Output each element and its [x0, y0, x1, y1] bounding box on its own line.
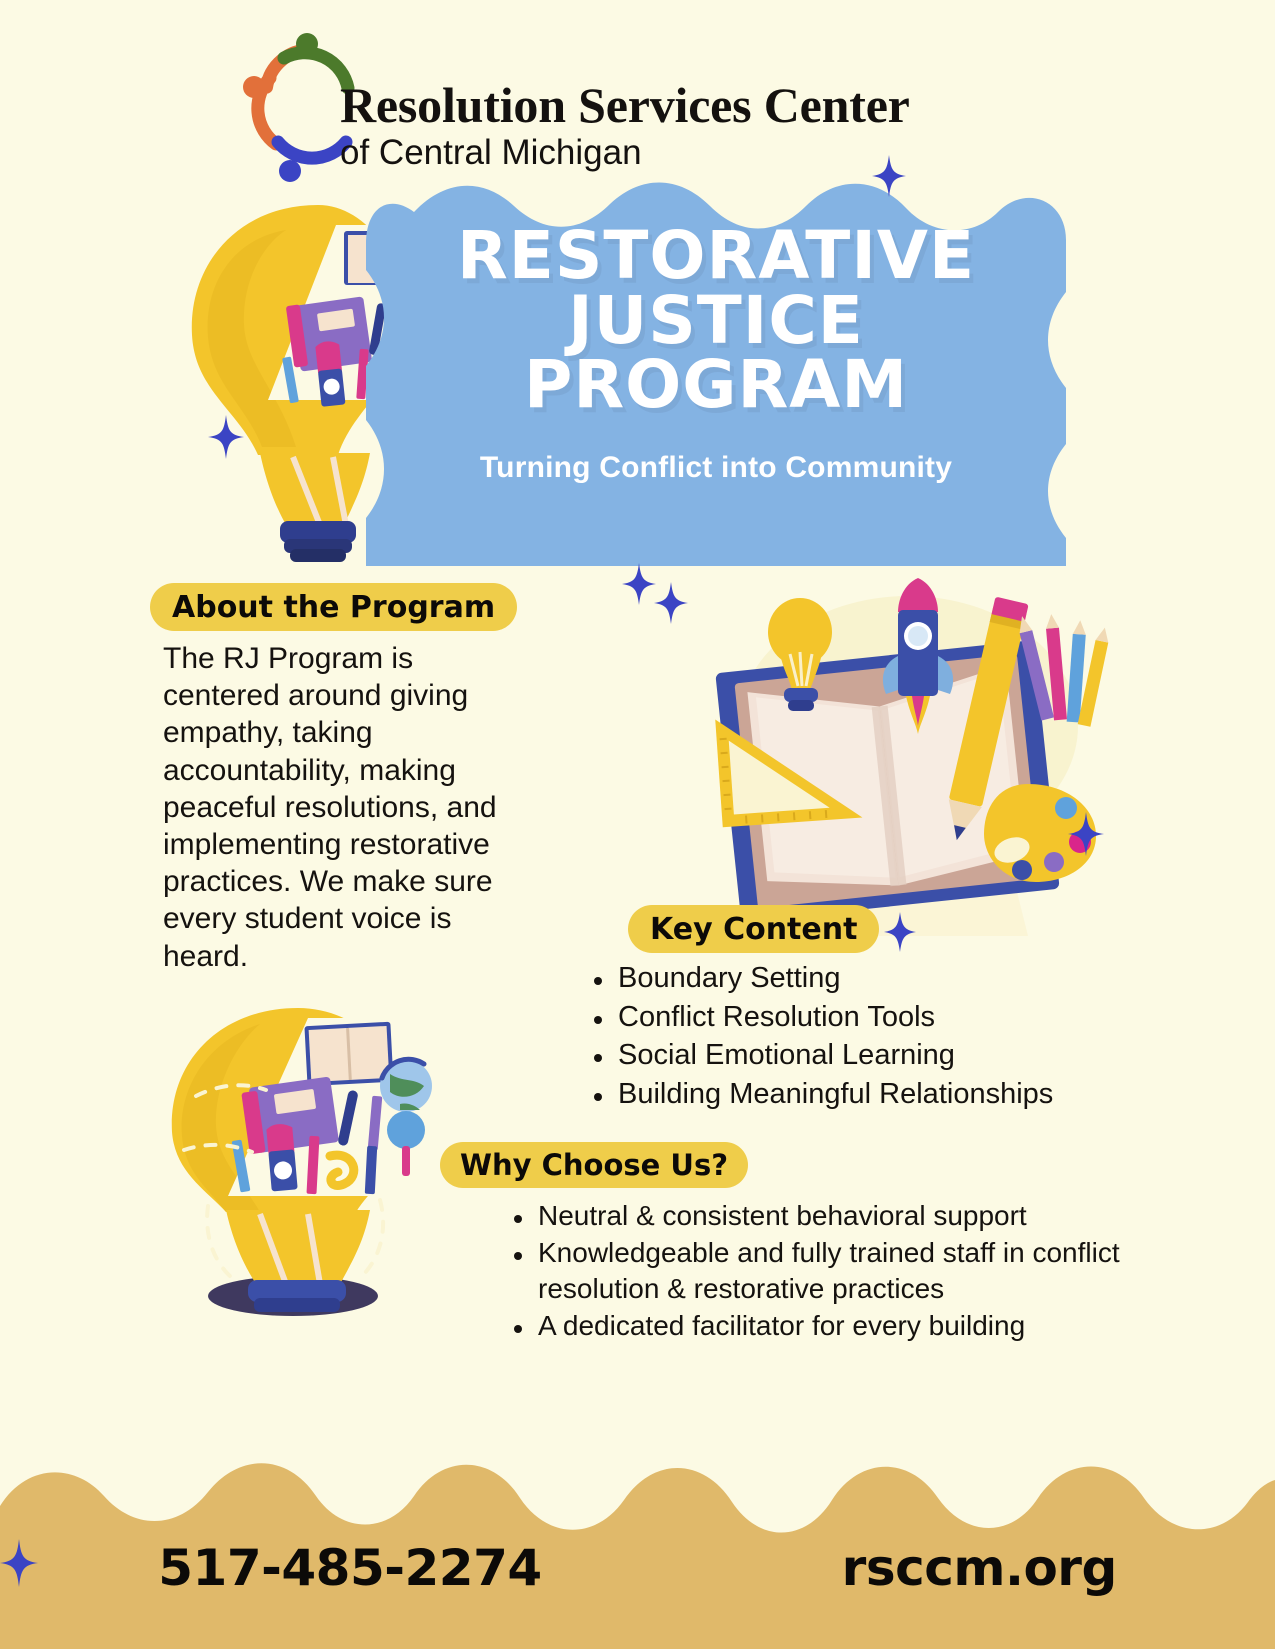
hero-subtitle: Turning Conflict into Community: [366, 450, 1066, 486]
organization-logo: Resolution Services Center of Central Mi…: [240, 28, 920, 178]
list-item: Boundary Setting: [588, 960, 1148, 997]
flyer-page: Resolution Services Center of Central Mi…: [0, 0, 1275, 1649]
footer-band: 517-485-2274 rsccm.org: [0, 1434, 1275, 1649]
about-section-body: The RJ Program is centered around giving…: [163, 640, 523, 975]
key-content-list: Boundary Setting Conflict Resolution Too…: [588, 960, 1148, 1114]
hero-title-line-3: PROGRAM: [366, 353, 1066, 418]
sparkle-icon: [872, 155, 906, 202]
list-item: Knowledgeable and fully trained staff in…: [508, 1235, 1133, 1306]
sparkle-icon: [208, 415, 244, 464]
why-choose-us-heading: Why Choose Us?: [440, 1142, 748, 1188]
footer-contact-row: 517-485-2274 rsccm.org: [0, 1539, 1275, 1597]
sparkle-icon: [884, 912, 916, 957]
open-book-supplies-illustration: [648, 556, 1128, 946]
logo-subtitle: of Central Michigan: [340, 133, 920, 173]
why-choose-us-list: Neutral & consistent behavioral support …: [508, 1198, 1133, 1345]
logo-title: Resolution Services Center: [340, 80, 920, 130]
lightbulb-supplies-illustration-bottom: [148, 1000, 448, 1320]
sparkle-icon: [1068, 812, 1104, 861]
hero-text-group: RESTORATIVE JUSTICE PROGRAM Turning Conf…: [366, 224, 1066, 486]
about-section-heading: About the Program: [150, 583, 517, 631]
footer-phone[interactable]: 517-485-2274: [158, 1539, 541, 1597]
hero-title-line-2: JUSTICE: [366, 289, 1066, 354]
list-item: Social Emotional Learning: [588, 1037, 1148, 1074]
list-item: A dedicated facilitator for every buildi…: [508, 1308, 1133, 1343]
footer-website[interactable]: rsccm.org: [842, 1539, 1117, 1597]
list-item: Conflict Resolution Tools: [588, 999, 1148, 1036]
hero-title-line-1: RESTORATIVE: [366, 224, 1066, 289]
list-item: Neutral & consistent behavioral support: [508, 1198, 1133, 1233]
hero-title-panel: RESTORATIVE JUSTICE PROGRAM Turning Conf…: [366, 182, 1066, 566]
list-item: Building Meaningful Relationships: [588, 1076, 1148, 1113]
key-content-heading: Key Content: [628, 905, 879, 953]
